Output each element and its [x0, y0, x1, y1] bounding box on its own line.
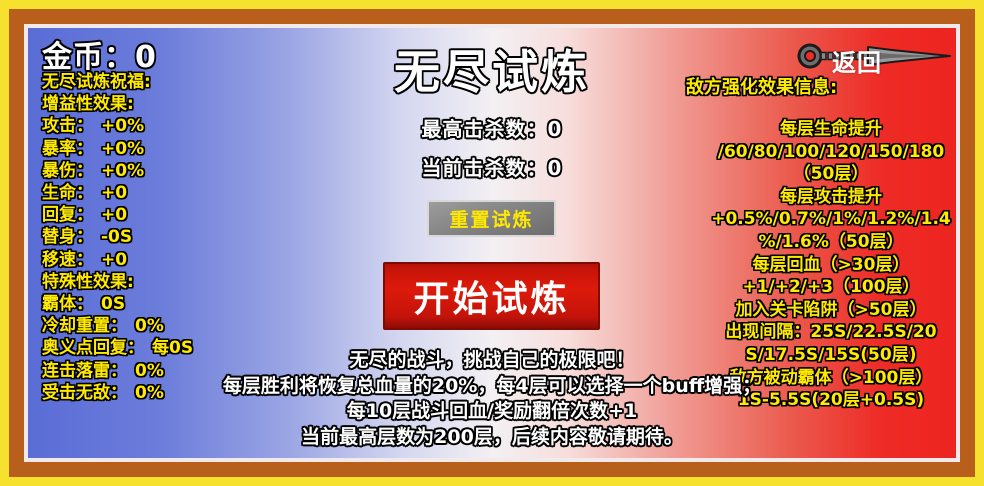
enemy-buff-info-line: 每层生命提升 — [686, 118, 956, 141]
back-button[interactable]: 返回 — [792, 36, 952, 76]
start-trial-button[interactable]: 开始试炼 — [383, 262, 600, 330]
blessing-stat-row: 霸体：0S — [42, 293, 272, 315]
description-note-line: 无尽的战斗，挑战自己的极限吧！ — [28, 348, 956, 374]
spacer — [686, 100, 956, 118]
blessing-stat-row: 特殊性效果: — [42, 271, 272, 293]
blessing-stat-label: 特殊性效果: — [42, 272, 134, 292]
enemy-buff-info-line: 加入关卡陷阱（>50层） — [686, 299, 956, 322]
blessing-stat-label: 回复： — [42, 205, 93, 225]
enemy-buff-info-line: /60/80/100/120/150/180 — [686, 141, 956, 164]
blessing-stat-row: 生命：+0 — [42, 182, 272, 204]
blessing-stat-value: +0 — [101, 205, 127, 225]
enemy-buff-info-line: （50层） — [686, 163, 956, 186]
enemy-buff-info-line: +1/+2/+3（100层） — [686, 276, 956, 299]
blessing-stat-row: 无尽试炼祝福: — [42, 71, 272, 93]
reset-trial-button-label: 重置试炼 — [449, 205, 533, 232]
enemy-buff-info-line: +0.5%/0.7%/1%/1.2%/1.4 — [686, 208, 956, 231]
start-trial-button-label: 开始试炼 — [413, 270, 569, 322]
blessing-stat-row: 替身：-0S — [42, 226, 272, 248]
blessing-stat-value: 0% — [135, 316, 164, 336]
enemy-buff-info-heading: 敌方强化效果信息: — [686, 76, 956, 100]
game-screen: 金币：0 无尽试炼 返回 无尽试炼祝福:增益性效果:攻击：+0%暴率：+0%暴伤… — [0, 0, 984, 486]
enemy-buff-info-line: 每层回血（>30层） — [686, 254, 956, 277]
blessing-stat-row: 移速：+0 — [42, 249, 272, 271]
description-note-line: 每10层战斗回血/奖励翻倍次数+1 — [28, 399, 956, 425]
blessing-stat-label: 冷却重置： — [42, 316, 127, 336]
arrow-spear-icon — [792, 36, 952, 76]
blessing-stat-label: 霸体： — [42, 294, 93, 314]
enemy-buff-info-line: 出现间隔：25S/22.5S/20 — [686, 321, 956, 344]
description-note-line: 当前最高层数为200层，后续内容敬请期待。 — [28, 425, 956, 451]
blessing-stat-value: +0 — [101, 250, 127, 270]
blessing-stat-row: 冷却重置：0% — [42, 315, 272, 337]
enemy-buff-info-line: 每层攻击提升 — [686, 186, 956, 209]
description-note-line: 每层胜利将恢复总血量的20%，每4层可以选择一个buff增强； — [28, 374, 956, 400]
blessing-stat-label: 增益性效果: — [42, 94, 134, 114]
blessing-stat-label: 生命： — [42, 183, 93, 203]
endless-trial-panel: 金币：0 无尽试炼 返回 无尽试炼祝福:增益性效果:攻击：+0%暴率：+0%暴伤… — [28, 28, 956, 458]
blessing-stat-row: 回复：+0 — [42, 204, 272, 226]
description-notes: 无尽的战斗，挑战自己的极限吧！每层胜利将恢复总血量的20%，每4层可以选择一个b… — [28, 348, 956, 450]
blessing-stat-value: +0 — [101, 183, 127, 203]
blessing-stat-label: 移速： — [42, 250, 93, 270]
blessing-stat-label: 无尽试炼祝福: — [42, 72, 151, 92]
blessing-stat-value: 0S — [101, 294, 125, 314]
blessing-stat-label: 替身： — [42, 227, 93, 247]
enemy-buff-info-line: %/1.6%（50层） — [686, 231, 956, 254]
reset-trial-button[interactable]: 重置试炼 — [427, 200, 556, 237]
blessing-stat-value: -0S — [101, 227, 132, 247]
